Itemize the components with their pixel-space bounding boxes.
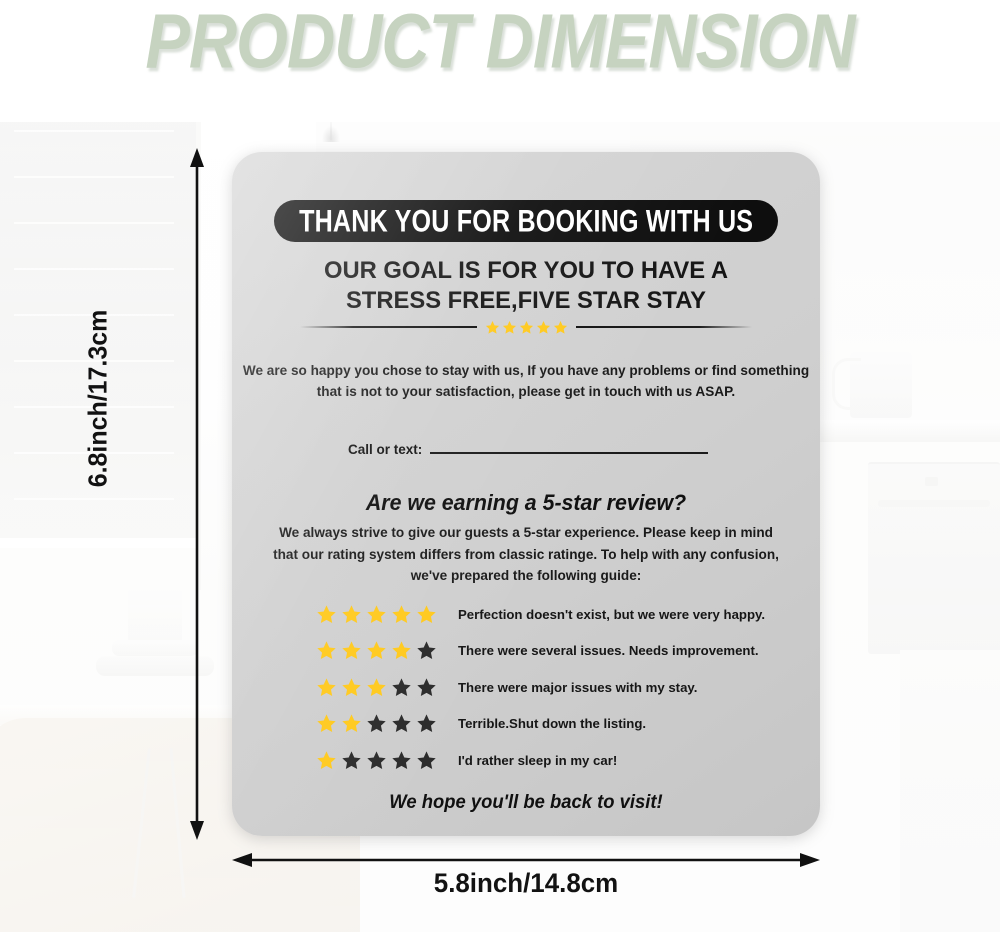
divider-star bbox=[502, 320, 517, 335]
divider-star bbox=[519, 320, 534, 335]
sign-content: THANK YOU FOR BOOKING WITH US OUR GOAL I… bbox=[232, 152, 820, 836]
banner-text: THANK YOU FOR BOOKING WITH US bbox=[299, 203, 753, 239]
star-empty-icon bbox=[416, 640, 437, 661]
width-dimension-arrow bbox=[232, 852, 820, 868]
height-dimension-label: 6.8inch/17.3cm bbox=[83, 288, 114, 509]
star-filled-icon bbox=[341, 677, 362, 698]
star-filled-icon bbox=[366, 640, 387, 661]
rating-row: Terrible.Shut down the listing. bbox=[316, 706, 786, 743]
star-filled-icon bbox=[391, 640, 412, 661]
star-filled-icon bbox=[366, 677, 387, 698]
suction-hook-icon bbox=[322, 126, 340, 142]
rating-description: Terrible.Shut down the listing. bbox=[444, 716, 646, 731]
rating-row: Perfection doesn't exist, but we were ve… bbox=[316, 596, 786, 633]
rating-row: There were major issues with my stay. bbox=[316, 669, 786, 706]
star-filled-icon bbox=[316, 677, 337, 698]
divider bbox=[300, 318, 752, 336]
width-dimension-label: 5.8inch/14.8cm bbox=[244, 868, 808, 899]
star-filled-icon bbox=[366, 604, 387, 625]
star-empty-icon bbox=[416, 713, 437, 734]
star-filled-icon bbox=[316, 640, 337, 661]
guide-paragraph: We always strive to give our guests a 5-… bbox=[266, 522, 786, 587]
divider-stars bbox=[485, 320, 568, 335]
star-filled-icon bbox=[341, 640, 362, 661]
height-dimension-arrow bbox=[189, 148, 205, 840]
divider-star bbox=[553, 320, 568, 335]
call-or-text-row: Call or text: bbox=[348, 435, 708, 457]
star-filled-icon bbox=[316, 604, 337, 625]
rating-stars bbox=[316, 640, 444, 661]
earning-heading: Are we earning a 5-star review? bbox=[241, 490, 811, 516]
closing-line: We hope you'll be back to visit! bbox=[241, 792, 811, 814]
divider-rule-right bbox=[576, 326, 753, 328]
star-filled-icon bbox=[416, 604, 437, 625]
rating-stars bbox=[316, 713, 444, 734]
rating-stars bbox=[316, 604, 444, 625]
rating-stars bbox=[316, 750, 444, 771]
page-title: PRODUCT DIMENSION bbox=[0, 0, 1000, 86]
star-filled-icon bbox=[341, 604, 362, 625]
rating-row: There were several issues. Needs improve… bbox=[316, 633, 786, 670]
divider-star bbox=[485, 320, 500, 335]
call-or-text-write-in-line bbox=[430, 452, 708, 454]
title-band: PRODUCT DIMENSION bbox=[0, 0, 1000, 122]
star-empty-icon bbox=[366, 750, 387, 771]
banner: THANK YOU FOR BOOKING WITH US bbox=[274, 200, 778, 242]
star-empty-icon bbox=[366, 713, 387, 734]
star-filled-icon bbox=[316, 750, 337, 771]
star-filled-icon bbox=[391, 604, 412, 625]
star-empty-icon bbox=[391, 750, 412, 771]
star-filled-icon bbox=[316, 713, 337, 734]
call-or-text-label: Call or text: bbox=[348, 442, 422, 457]
star-empty-icon bbox=[391, 677, 412, 698]
rating-description: Perfection doesn't exist, but we were ve… bbox=[444, 607, 765, 622]
body-paragraph: We are so happy you chose to stay with u… bbox=[240, 360, 812, 402]
divider-rule-left bbox=[300, 326, 477, 328]
star-empty-icon bbox=[416, 750, 437, 771]
divider-star bbox=[536, 320, 551, 335]
rating-row: I'd rather sleep in my car! bbox=[316, 742, 786, 779]
star-empty-icon bbox=[391, 713, 412, 734]
star-filled-icon bbox=[341, 713, 362, 734]
rating-description: There were major issues with my stay. bbox=[444, 680, 697, 695]
star-empty-icon bbox=[416, 677, 437, 698]
goal-line-2: STRESS FREE,FIVE STAR STAY bbox=[241, 287, 811, 315]
rating-description: There were several issues. Needs improve… bbox=[444, 643, 759, 658]
product-sign: THANK YOU FOR BOOKING WITH US OUR GOAL I… bbox=[232, 152, 820, 836]
rating-description: I'd rather sleep in my car! bbox=[444, 753, 617, 768]
goal-line-1: OUR GOAL IS FOR YOU TO HAVE A bbox=[241, 257, 811, 285]
rating-stars bbox=[316, 677, 444, 698]
rating-guide-list: Perfection doesn't exist, but we were ve… bbox=[316, 596, 786, 779]
star-empty-icon bbox=[341, 750, 362, 771]
